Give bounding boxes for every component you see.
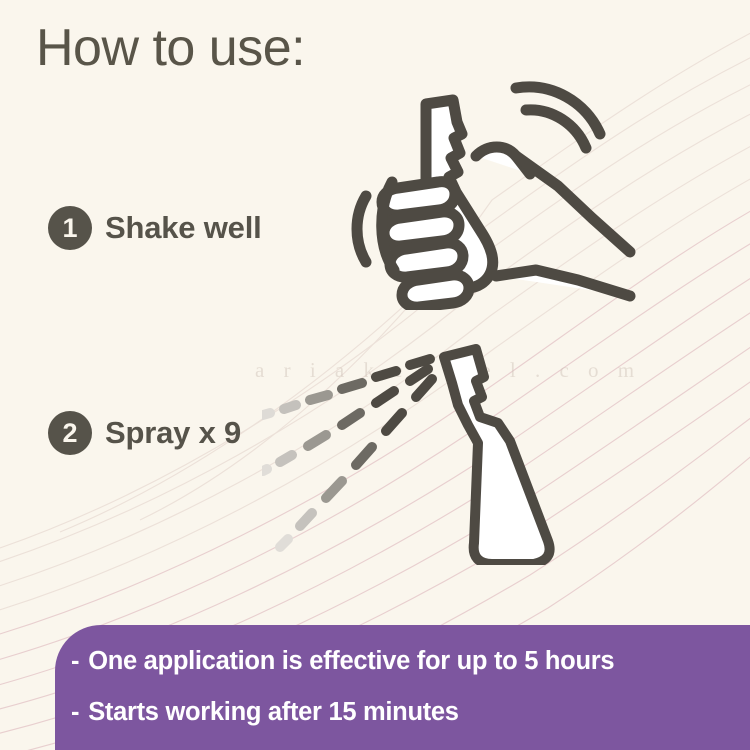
step-number-badge-1: 1 — [48, 206, 92, 250]
banner-text-2: Starts working after 15 minutes — [88, 698, 458, 727]
bullet-dash-2: - — [71, 698, 79, 727]
step-label-1: Shake well — [105, 210, 262, 246]
hand-shaking-spray-bottle-icon — [330, 70, 710, 310]
how-to-use-poster: a r i a k e n n e l . c o m How to use: … — [0, 0, 750, 750]
step-number-badge-2: 2 — [48, 411, 92, 455]
bullet-dash-1: - — [71, 647, 79, 676]
step-2: 2 Spray x 9 — [48, 411, 241, 455]
info-banner: - One application is effective for up to… — [55, 625, 750, 750]
banner-text-1: One application is effective for up to 5… — [88, 647, 614, 676]
page-title: How to use: — [36, 18, 305, 78]
banner-line-2: - Starts working after 15 minutes — [71, 698, 750, 727]
banner-line-1: - One application is effective for up to… — [71, 647, 750, 676]
step-1: 1 Shake well — [48, 206, 262, 250]
spray-bottle-spraying-icon — [262, 335, 582, 565]
step-label-2: Spray x 9 — [105, 415, 241, 451]
